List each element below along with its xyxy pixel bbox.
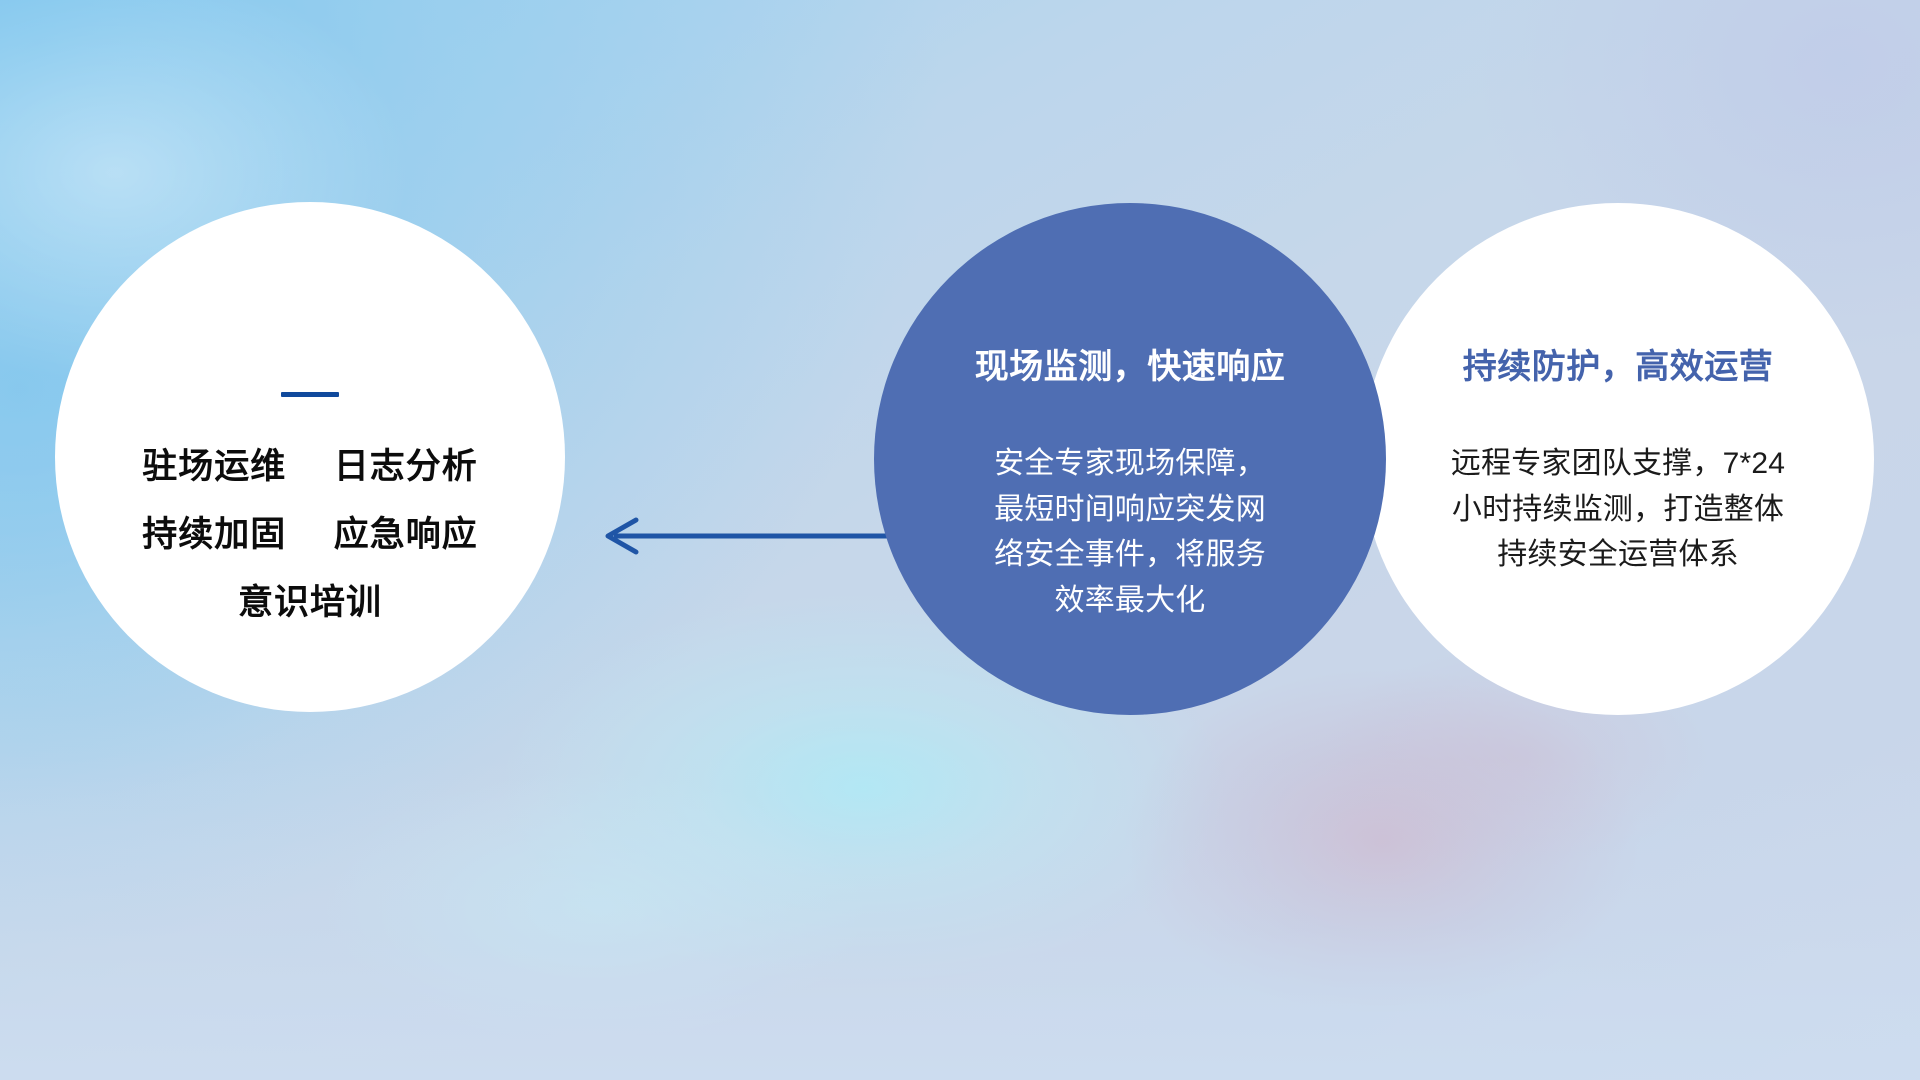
right-circle-content: 持续防护，高效运营 远程专家团队支撑，7*24 小时持续监测，打造整体 持续安全…: [1362, 348, 1874, 578]
middle-body-line-4: 效率最大化: [932, 578, 1328, 624]
left-circle-line-3: 意识培训: [95, 585, 525, 620]
accent-dash-divider: [281, 392, 339, 397]
left-circle-content: 驻场运维 日志分析 持续加固 应急响应 意识培训: [55, 392, 565, 620]
connector-arrow: [600, 508, 920, 564]
middle-circle-body: 安全专家现场保障， 最短时间响应突发网 络安全事件，将服务 效率最大化: [932, 441, 1328, 623]
left-circle-line-2: 持续加固 应急响应: [95, 517, 525, 552]
left-tag-yingji-xiangying: 应急响应: [334, 515, 478, 554]
left-tag-rizhi-fenxi: 日志分析: [334, 447, 478, 486]
middle-circle-title: 现场监测，快速响应: [932, 348, 1328, 387]
middle-circle-content: 现场监测，快速响应 安全专家现场保障， 最短时间响应突发网 络安全事件，将服务 …: [874, 348, 1386, 623]
left-tag-zhuchang-yunwei: 驻场运维: [142, 447, 286, 486]
right-circle-title: 持续防护，高效运营: [1396, 348, 1840, 387]
right-circle-body: 远程专家团队支撑，7*24 小时持续监测，打造整体 持续安全运营体系: [1396, 441, 1840, 578]
middle-body-line-3: 络安全事件，将服务: [932, 532, 1328, 578]
right-body-line-2: 小时持续监测，打造整体: [1396, 487, 1840, 533]
slide-canvas: 驻场运维 日志分析 持续加固 应急响应 意识培训 现场监测，快速响应 安全专家现…: [0, 0, 1920, 1080]
left-tag-chixu-jiagu: 持续加固: [142, 515, 286, 554]
left-tag-yishi-peixun: 意识培训: [238, 583, 382, 622]
middle-body-line-2: 最短时间响应突发网: [932, 487, 1328, 533]
right-body-line-1: 远程专家团队支撑，7*24: [1396, 441, 1840, 487]
right-body-line-3: 持续安全运营体系: [1396, 532, 1840, 578]
left-service-circle[interactable]: 驻场运维 日志分析 持续加固 应急响应 意识培训: [55, 202, 565, 712]
left-circle-line-1: 驻场运维 日志分析: [95, 449, 525, 484]
middle-body-line-1: 安全专家现场保障，: [932, 441, 1328, 487]
arrow-left-icon: [600, 508, 920, 564]
